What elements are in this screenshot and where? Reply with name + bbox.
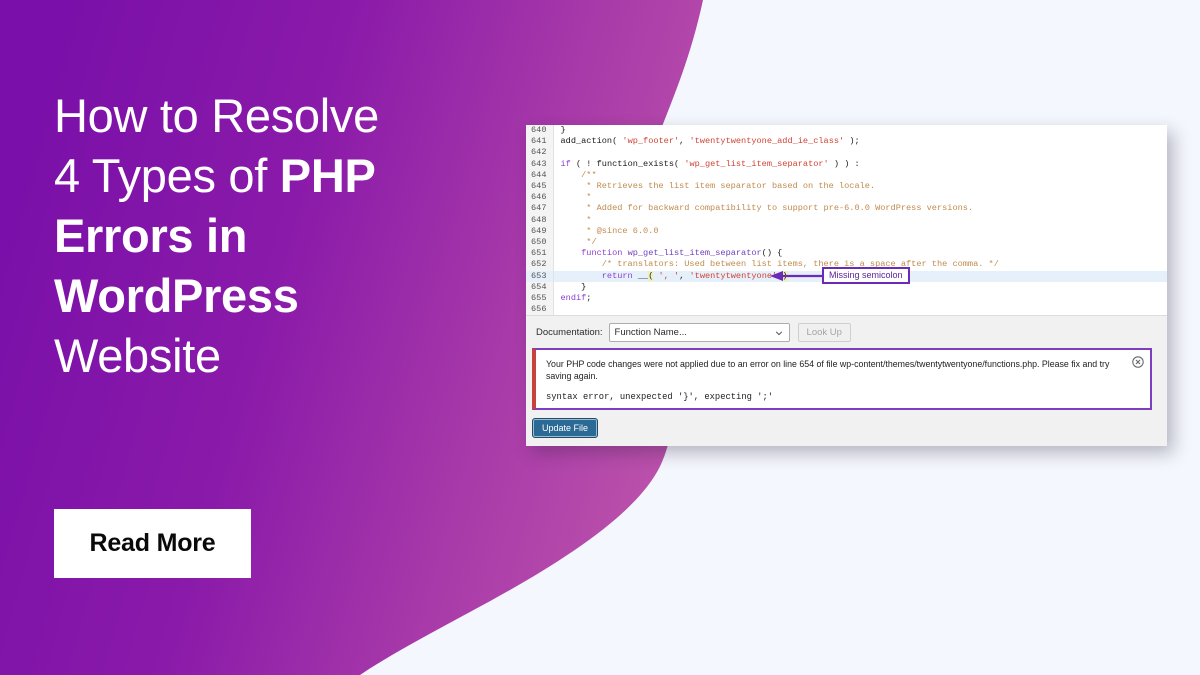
line-source: * — [553, 192, 1167, 203]
annotation-arrow-icon — [770, 271, 824, 281]
line-source: * Added for backward compatibility to su… — [553, 203, 1167, 214]
update-file-button[interactable]: Update File — [532, 418, 598, 438]
code-token: } — [561, 125, 566, 135]
line-number: 642 — [526, 147, 553, 158]
code-token: 'wp_footer' — [622, 136, 679, 146]
code-token: * Retrieves the list item separator base… — [561, 181, 876, 191]
code-token: ( — [612, 136, 622, 146]
line-number: 640 — [526, 125, 553, 136]
line-number: 655 — [526, 293, 553, 304]
line-source: add_action( 'wp_footer', 'twentytwentyon… — [553, 136, 1167, 147]
read-more-button[interactable]: Read More — [54, 509, 251, 578]
code-line: 651 function wp_get_list_item_separator(… — [526, 248, 1167, 259]
line-source: */ — [553, 237, 1167, 248]
code-token: * — [561, 192, 592, 202]
code-token: return — [602, 271, 633, 281]
line-source: * — [553, 215, 1167, 226]
line-source: if ( ! function_exists( 'wp_get_list_ite… — [553, 159, 1167, 170]
line-number: 645 — [526, 181, 553, 192]
code-token: ) ) : — [829, 159, 860, 169]
code-token: * — [561, 215, 592, 225]
line-number: 656 — [526, 304, 553, 315]
chevron-down-icon — [775, 329, 783, 337]
code-line: 642 — [526, 147, 1167, 158]
code-token: /* translators: Used between list items,… — [561, 259, 999, 269]
page-title: How to Resolve 4 Types of PHP Errors in … — [54, 86, 484, 386]
code-token — [561, 248, 582, 258]
headline-line-4: WordPress — [54, 266, 484, 326]
code-token: function — [581, 248, 622, 258]
line-source: function wp_get_list_item_separator() { — [553, 248, 1167, 259]
line-source: endif; — [553, 293, 1167, 304]
look-up-button[interactable]: Look Up — [798, 323, 851, 342]
close-icon[interactable] — [1132, 356, 1144, 368]
line-source: * @since 6.0.0 — [553, 226, 1167, 237]
code-token: /** — [561, 170, 597, 180]
headline-line-2: 4 Types of PHP — [54, 146, 484, 206]
line-number: 652 — [526, 259, 553, 270]
code-token: endif — [561, 293, 587, 303]
update-file-label: Update File — [542, 423, 588, 433]
code-line: 645 * Retrieves the list item separator … — [526, 181, 1167, 192]
documentation-label: Documentation: — [536, 327, 603, 338]
code-token: ( — [674, 159, 684, 169]
code-token: * @since 6.0.0 — [561, 226, 659, 236]
line-number: 646 — [526, 192, 553, 203]
line-number: 647 — [526, 203, 553, 214]
code-line: 656 — [526, 304, 1167, 315]
code-token: () { — [762, 248, 783, 258]
read-more-label: Read More — [89, 529, 215, 558]
code-token: */ — [561, 237, 597, 247]
line-number: 653 — [526, 271, 553, 282]
line-number: 651 — [526, 248, 553, 259]
headline-line-5: Website — [54, 326, 484, 386]
code-line: 641add_action( 'wp_footer', 'twentytwent… — [526, 136, 1167, 147]
php-error-notice: Your PHP code changes were not applied d… — [532, 348, 1152, 410]
code-token: , — [679, 271, 689, 281]
documentation-row: Documentation: Function Name... Look Up — [526, 316, 1167, 349]
code-token: , — [679, 136, 689, 146]
code-lines-table: 640}641add_action( 'wp_footer', 'twentyt… — [526, 125, 1167, 315]
line-source: } — [553, 125, 1167, 136]
code-line: 650 */ — [526, 237, 1167, 248]
line-number: 648 — [526, 215, 553, 226]
code-token: 'twentytwentyone_add_ie_class' — [689, 136, 844, 146]
line-number: 643 — [526, 159, 553, 170]
code-line: 647 * Added for backward compatibility t… — [526, 203, 1167, 214]
line-number: 644 — [526, 170, 553, 181]
code-token: __ — [633, 271, 648, 281]
code-token: wp_get_list_item_separator — [628, 248, 762, 258]
headline-line-1: How to Resolve — [54, 86, 484, 146]
line-number: 654 — [526, 282, 553, 293]
notice-message: Your PHP code changes were not applied d… — [546, 358, 1124, 382]
code-token — [561, 271, 602, 281]
line-source — [553, 147, 1167, 158]
code-token: ; — [586, 293, 591, 303]
code-editor[interactable]: 640}641add_action( 'wp_footer', 'twentyt… — [526, 125, 1167, 316]
code-token: function_exists — [597, 159, 674, 169]
code-line: 644 /** — [526, 170, 1167, 181]
line-number: 650 — [526, 237, 553, 248]
code-line: 640} — [526, 125, 1167, 136]
headline-line-3: Errors in — [54, 206, 484, 266]
annotation-callout: Missing semicolon — [822, 267, 910, 284]
line-source: /** — [553, 170, 1167, 181]
code-line: 655endif; — [526, 293, 1167, 304]
code-token: ); — [844, 136, 859, 146]
code-token: 'wp_get_list_item_separator' — [684, 159, 828, 169]
code-token: 'twentytwentyone' — [690, 271, 778, 281]
code-token: add_action — [561, 136, 613, 146]
code-line: 646 * — [526, 192, 1167, 203]
notice-error-detail: syntax error, unexpected '}', expecting … — [546, 392, 1124, 402]
code-line: 643if ( ! function_exists( 'wp_get_list_… — [526, 159, 1167, 170]
documentation-select[interactable]: Function Name... — [609, 323, 790, 342]
hero-text-block: How to Resolve 4 Types of PHP Errors in … — [54, 86, 484, 386]
line-number: 649 — [526, 226, 553, 237]
code-token: } — [561, 282, 587, 292]
code-line: 649 * @since 6.0.0 — [526, 226, 1167, 237]
code-token: ', ' — [659, 271, 680, 281]
code-token: if — [561, 159, 571, 169]
look-up-label: Look Up — [807, 327, 842, 338]
code-line: 648 * — [526, 215, 1167, 226]
line-source: * Retrieves the list item separator base… — [553, 181, 1167, 192]
line-number: 641 — [526, 136, 553, 147]
documentation-select-value: Function Name... — [615, 327, 687, 338]
code-token: * Added for backward compatibility to su… — [561, 203, 974, 213]
annotation-callout-label: Missing semicolon — [829, 270, 903, 280]
line-source — [553, 304, 1167, 315]
code-token: ( ! — [571, 159, 597, 169]
